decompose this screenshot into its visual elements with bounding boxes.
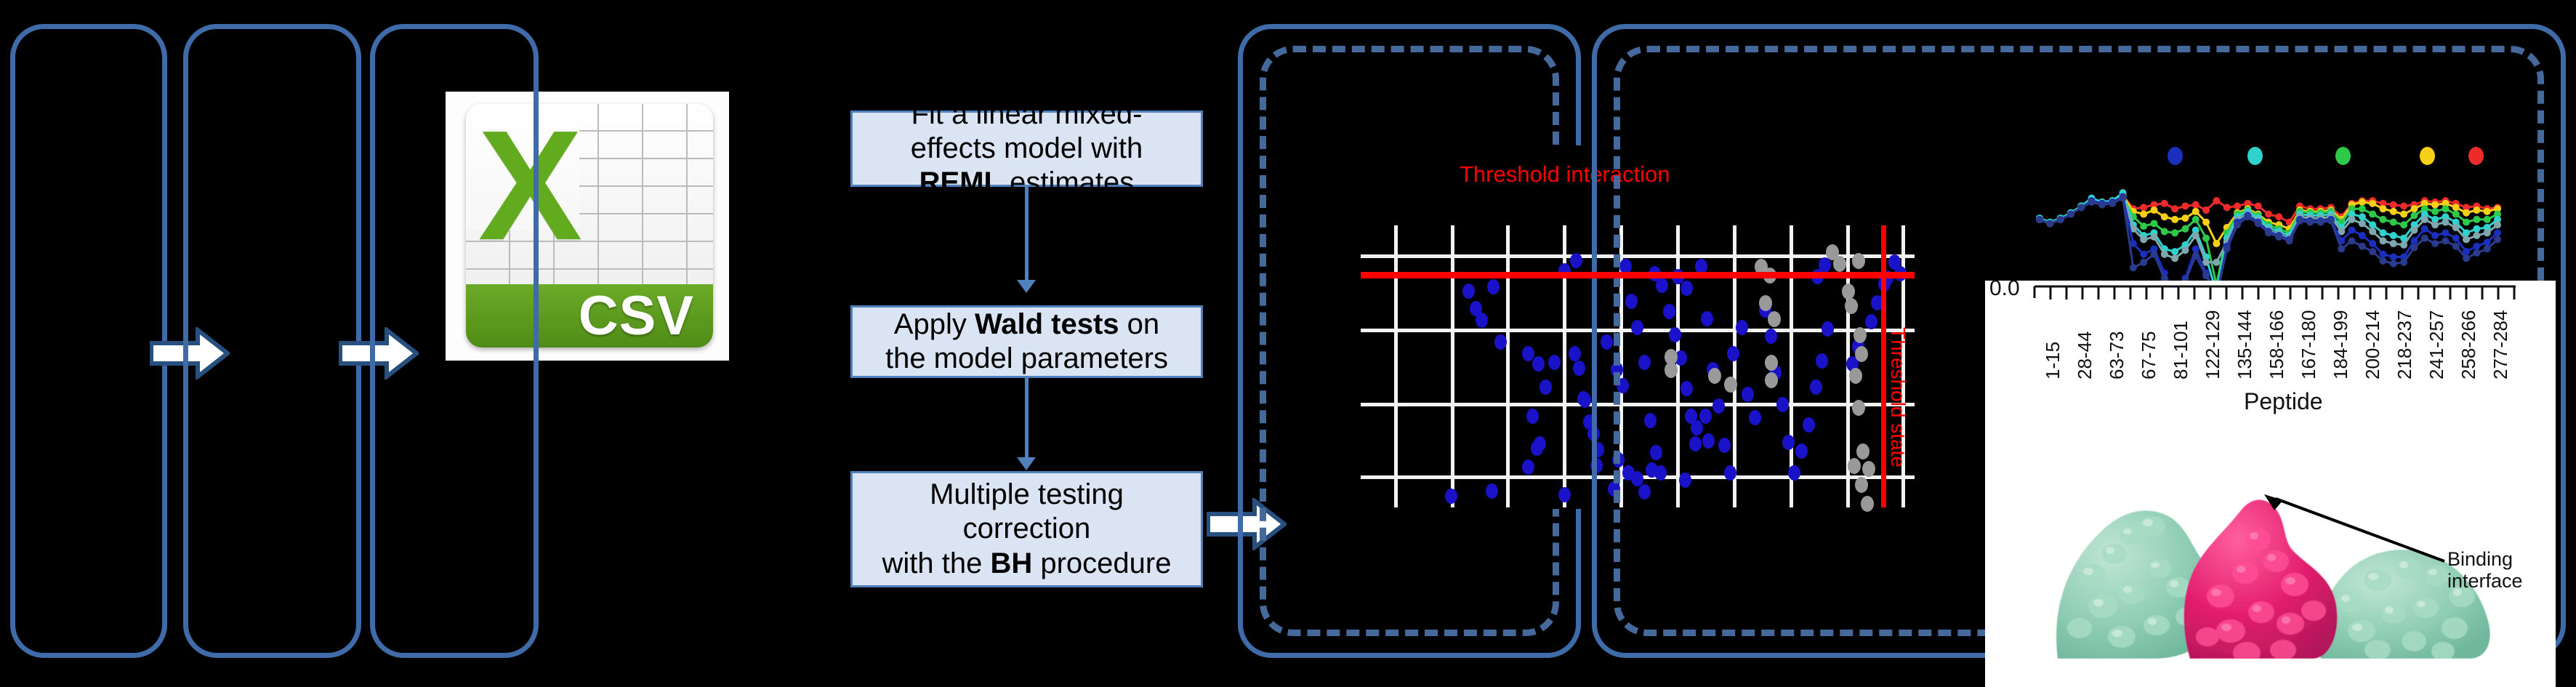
legend-dot-cyan <box>2247 147 2263 165</box>
line-marker <box>2410 244 2418 252</box>
scatter-point <box>1569 346 1581 361</box>
line-marker <box>2400 211 2407 218</box>
line-marker <box>2275 233 2282 241</box>
scatter-point <box>1532 356 1545 371</box>
step-fit-model-box: Fit a linear mixed- effects model with R… <box>850 111 1203 187</box>
line-marker <box>2463 254 2470 262</box>
line-marker <box>2098 201 2106 209</box>
line-marker <box>2369 228 2376 235</box>
line-marker <box>2348 227 2356 234</box>
line-marker <box>2431 201 2439 209</box>
line-marker <box>2265 229 2272 236</box>
line-marker <box>2161 251 2168 258</box>
line-marker <box>2057 216 2064 223</box>
line-marker <box>2390 219 2397 226</box>
line-marker <box>2296 217 2303 225</box>
scatter-point <box>1570 253 1582 268</box>
line-marker <box>2484 238 2491 246</box>
scatter-point <box>1486 483 1498 499</box>
line-marker <box>2452 211 2460 218</box>
line-marker <box>2161 200 2168 207</box>
line-marker <box>2421 225 2428 233</box>
line-marker <box>2390 240 2397 247</box>
step3-post: procedure <box>1032 547 1171 579</box>
scatter-point <box>1494 334 1507 350</box>
line-marker <box>2473 232 2480 239</box>
line-marker <box>2369 211 2376 218</box>
panel-data <box>183 24 361 658</box>
line-marker <box>2431 232 2439 239</box>
line-marker <box>2151 206 2158 214</box>
step-bh-correction-box: Multiple testing correction with the BH … <box>850 471 1203 587</box>
peptide-tick-label: 241-257 <box>2426 310 2448 379</box>
line-marker <box>2369 200 2376 207</box>
line-marker <box>2265 211 2272 218</box>
line-marker <box>2161 228 2168 235</box>
line-marker <box>2151 251 2158 258</box>
figure-root: X CSV Fit a linear mixed- effects model … <box>0 0 2576 687</box>
line-marker <box>2202 235 2210 242</box>
line-marker <box>2473 206 2480 214</box>
line-marker <box>2192 245 2199 252</box>
legend-dot-red <box>2468 147 2484 165</box>
peptide-tick-label: 63-73 <box>2106 332 2128 380</box>
line-marker <box>2192 232 2199 239</box>
scatter-point <box>1462 284 1475 299</box>
line-marker <box>2380 251 2387 258</box>
line-marker <box>2484 245 2491 252</box>
line-marker <box>2181 214 2189 222</box>
peptide-tick-label: 167-180 <box>2298 310 2320 379</box>
scatter-point <box>1445 489 1457 504</box>
line-marker <box>2036 216 2043 223</box>
gridline-v <box>1394 225 1398 507</box>
line-marker <box>2130 264 2137 271</box>
line-marker <box>2494 236 2501 244</box>
line-marker <box>2317 219 2325 226</box>
scatter-point <box>1476 313 1488 328</box>
scatter-point <box>1522 459 1534 475</box>
line-marker <box>2275 213 2282 220</box>
line-marker <box>2327 217 2335 225</box>
line-marker <box>2171 216 2178 223</box>
scatter-point <box>1539 379 1552 395</box>
peptide-tick-label: 258-266 <box>2458 310 2480 379</box>
line-marker <box>2410 205 2418 212</box>
line-marker <box>2442 229 2449 236</box>
step1-line2: effects model with <box>911 132 1143 164</box>
line-marker <box>2213 259 2220 266</box>
legend-dot-green <box>2335 147 2351 165</box>
line-marker <box>2400 221 2407 228</box>
peptide-tick-label: 277-284 <box>2490 310 2512 379</box>
line-marker <box>2213 240 2220 247</box>
line-marker <box>2380 257 2387 265</box>
line-marker <box>2338 245 2345 252</box>
line-marker <box>2359 198 2366 206</box>
line-marker <box>2484 208 2491 215</box>
peptide-x-axis <box>1985 281 2556 310</box>
line-marker <box>2202 219 2210 226</box>
line-marker <box>2140 222 2147 230</box>
peptide-tick-label: 218-237 <box>2394 310 2416 379</box>
line-marker <box>2390 208 2397 215</box>
line-series-cyan <box>2040 193 2497 293</box>
line-marker <box>2442 219 2449 226</box>
line-marker <box>2473 216 2480 223</box>
step1-reml: REML <box>919 166 1002 198</box>
binding-interface-leader <box>2261 491 2450 579</box>
step-wald-tests-box: Apply Wald tests on the model parameters <box>850 305 1203 378</box>
line-marker <box>2067 211 2074 218</box>
line-marker <box>2359 232 2366 239</box>
line-marker <box>2171 248 2178 255</box>
line-marker <box>2400 203 2407 210</box>
line-marker <box>2234 221 2241 228</box>
line-marker <box>2120 194 2127 201</box>
threshold-interaction-line <box>1361 272 1915 278</box>
peptide-tick-label: 1-15 <box>2042 342 2064 379</box>
line-marker <box>2223 204 2231 211</box>
step2-wald: Wald tests <box>975 308 1119 340</box>
step1-line1: Fit a linear mixed- <box>911 98 1143 130</box>
line-marker <box>2452 243 2460 250</box>
line-marker <box>2286 237 2293 244</box>
line-marker <box>2431 208 2439 215</box>
line-marker <box>2234 203 2241 210</box>
line-marker <box>2410 227 2418 234</box>
line-marker <box>2202 272 2210 279</box>
step3-bh: BH <box>990 547 1032 579</box>
line-marker <box>2369 221 2376 228</box>
peptide-tick-label: 122-129 <box>2202 310 2224 379</box>
line-marker <box>2473 249 2480 257</box>
threshold-state-line <box>1881 225 1886 507</box>
peptide-tick-label: 28-44 <box>2074 332 2096 380</box>
threshold-state-label: Threshold state <box>1886 327 1909 467</box>
line-marker <box>2348 237 2356 244</box>
line-marker <box>2171 254 2178 262</box>
line-marker <box>2494 229 2501 236</box>
line-marker <box>2171 229 2178 236</box>
line-marker <box>2410 237 2418 244</box>
line-marker <box>2463 209 2470 217</box>
step2-post: on <box>1119 308 1160 340</box>
gridline-v <box>1506 225 1510 507</box>
line-marker <box>2442 237 2449 244</box>
line-marker <box>2255 220 2262 227</box>
line-marker <box>2192 216 2199 223</box>
line-marker <box>2192 201 2199 209</box>
step3-line2: correction <box>963 513 1091 545</box>
line-marker <box>2181 203 2189 210</box>
line-marker <box>2463 236 2470 244</box>
line-marker <box>2390 201 2397 209</box>
line-marker <box>2400 241 2407 249</box>
line-marker <box>2348 216 2356 223</box>
csv-label: CSV <box>579 284 713 347</box>
line-marker <box>2359 205 2366 212</box>
line-marker <box>2140 211 2147 218</box>
line-marker <box>2359 243 2366 250</box>
line-marker <box>2140 251 2147 258</box>
panel-analysis <box>370 24 539 658</box>
scatter-point <box>1579 393 1591 408</box>
line-marker <box>2484 216 2491 223</box>
line-marker <box>2390 253 2397 260</box>
peptide-tick-label: 81-101 <box>2170 321 2192 379</box>
line-marker <box>2473 243 2480 250</box>
scatter-point <box>1548 355 1561 370</box>
scatter-point <box>1558 487 1571 502</box>
line-marker <box>2306 219 2314 226</box>
legend-dot-blue <box>2168 147 2183 165</box>
line-marker <box>2421 216 2428 223</box>
gridline-v <box>1451 225 1454 507</box>
line-marker <box>2380 205 2387 212</box>
line-marker <box>2484 229 2491 236</box>
connector-step1-step2 <box>1025 187 1029 289</box>
line-marker <box>2400 259 2407 266</box>
line-marker <box>2369 248 2376 255</box>
line-marker <box>2244 213 2251 220</box>
scatter-point <box>1573 361 1585 376</box>
step2-line2: the model parameters <box>885 342 1168 374</box>
step1-line3-rest: estimates <box>1002 166 1134 198</box>
line-marker <box>2494 221 2501 228</box>
line-marker <box>2202 206 2210 214</box>
scatter-point <box>1487 279 1500 294</box>
line-marker <box>2452 224 2460 231</box>
peptide-axis-title: Peptide <box>2244 388 2323 415</box>
line-marker <box>2077 204 2085 211</box>
step2-pre: Apply <box>894 308 975 340</box>
connector-step2-step3-arrowhead <box>1017 457 1036 470</box>
peptide-tick-label: 67-75 <box>2138 332 2160 380</box>
line-marker <box>2255 203 2262 210</box>
peptide-axis-protein-card: 0.0 1-1528-4463-7367- <box>1985 281 2556 687</box>
line-marker <box>2192 208 2199 215</box>
legend-dot-yellow <box>2420 147 2435 165</box>
line-marker <box>2181 225 2189 233</box>
step3-pre: with the <box>882 547 991 579</box>
line-marker <box>2463 219 2470 226</box>
line-marker <box>2109 200 2116 207</box>
line-marker <box>2171 205 2178 212</box>
peptide-tick-label: 158-166 <box>2266 310 2288 379</box>
peptide-tick-label: 135-144 <box>2234 310 2256 379</box>
line-marker <box>2380 237 2387 244</box>
line-marker <box>2223 245 2231 252</box>
line-marker <box>2046 220 2053 227</box>
step3-line1: Multiple testing <box>930 478 1124 510</box>
line-marker <box>2369 240 2376 247</box>
line-marker <box>2192 252 2199 260</box>
line-marker <box>2151 233 2158 241</box>
panel-input <box>10 24 167 658</box>
line-marker <box>2380 216 2387 223</box>
line-marker <box>2473 225 2480 233</box>
line-marker <box>2442 205 2449 212</box>
line-marker <box>2140 204 2147 211</box>
line-marker <box>2431 240 2439 247</box>
line-marker <box>2390 232 2397 239</box>
line-marker <box>2452 204 2460 211</box>
connector-step2-step3 <box>1025 378 1029 467</box>
line-marker <box>2359 213 2366 220</box>
line-marker <box>2431 221 2439 228</box>
line-marker <box>2421 235 2428 242</box>
line-marker <box>2140 259 2147 266</box>
scatter-point <box>1531 441 1543 456</box>
peptide-tick-label: 184-199 <box>2330 310 2352 379</box>
line-marker <box>2380 229 2387 236</box>
line-marker <box>2359 220 2366 227</box>
line-marker <box>2161 213 2168 220</box>
line-marker <box>2181 246 2189 254</box>
line-marker <box>2410 212 2418 219</box>
line-marker <box>2452 235 2460 242</box>
binding-interface-annotation: Binding interface <box>2447 548 2535 592</box>
line-marker <box>2390 260 2397 268</box>
connector-step1-step2-arrowhead <box>1017 280 1036 293</box>
peptide-tick-label: 200-214 <box>2362 310 2384 379</box>
scatter-point <box>1526 409 1539 424</box>
line-marker <box>2140 236 2147 244</box>
line-marker <box>2151 220 2158 227</box>
line-marker <box>2213 197 2220 204</box>
line-marker <box>2088 198 2096 206</box>
